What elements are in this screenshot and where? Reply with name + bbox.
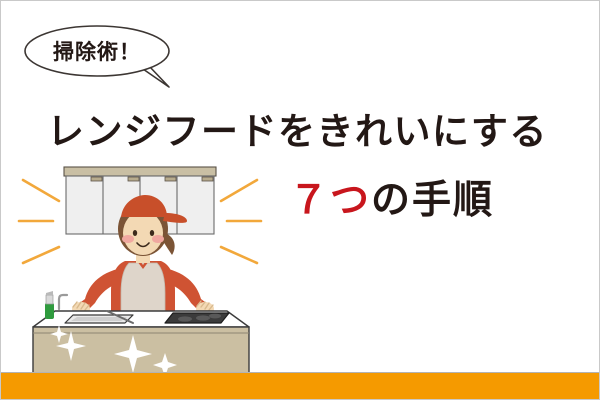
headline-secondary: ７つの手順 xyxy=(289,169,494,225)
headline-step-count: ７つ xyxy=(289,179,371,222)
faucet xyxy=(59,295,67,309)
bottom-accent-bar xyxy=(1,372,599,399)
induction-cooktop xyxy=(165,313,229,323)
poster-canvas: 掃除術！ レンジフードをきれいにする ７つの手順 xyxy=(0,0,600,400)
sparkle-rays-right xyxy=(221,180,261,263)
sparkle-rays-left xyxy=(19,180,59,263)
headline-primary: レンジフードをきれいにする xyxy=(47,101,548,155)
spray-bottle xyxy=(45,291,54,319)
kitchen-illustration xyxy=(15,159,265,379)
headline-step-suffix: の手順 xyxy=(371,179,494,222)
speech-bubble: 掃除術！ xyxy=(23,25,193,91)
speech-bubble-text: 掃除術！ xyxy=(23,25,171,77)
